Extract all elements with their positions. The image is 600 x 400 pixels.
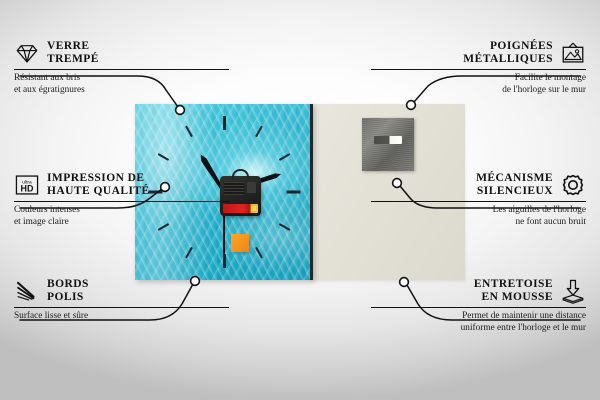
clock-tick [223,116,226,130]
product-infographic: VERRE TREMPÉ Résistant aux bris et aux é… [0,0,600,400]
feature-header: POIGNÉES MÉTALLIQUES [371,40,586,66]
polished-edges-icon [14,278,40,304]
ultra-hd-icon: ultra HD [14,172,40,198]
clock-tick [279,153,290,161]
movement-knob [247,182,256,193]
feature-description: Couleurs intenses et image claire [14,205,229,228]
feature-poignees-metalliques: POIGNÉES MÉTALLIQUES Facilite le montage… [371,40,586,96]
diamond-icon [14,40,40,66]
feature-header: BORDS POLIS [14,278,229,304]
framed-picture-icon [560,40,586,66]
feature-title: BORDS POLIS [47,278,89,304]
feature-rule [371,201,586,202]
clock-tick [185,247,193,258]
feature-mecanisme-silencieux: MÉCANISME SILENCIEUX Les aiguilles de l'… [371,172,586,228]
clock-tick [255,126,263,137]
feature-rule [371,69,586,70]
clock-tick [279,223,290,231]
foam-spacer-icon [560,278,586,304]
gear-icon [560,172,586,198]
feature-title: MÉCANISME SILENCIEUX [476,172,553,198]
feature-impression-haute-qualite: ultra HD IMPRESSION DE HAUTE QUALITÉ Cou… [14,172,229,228]
feature-description: Facilite le montage de l'horloge sur le … [371,73,586,96]
feature-title: VERRE TREMPÉ [47,40,99,66]
feature-description: Surface lisse et sûre [14,311,229,322]
clock-tick [158,153,169,161]
movement-hook [232,169,249,179]
feature-header: VERRE TREMPÉ [14,40,229,66]
foam-spacer [231,234,249,252]
feature-description: Permet de maintenir une distance uniform… [371,311,586,334]
feature-rule [371,307,586,308]
metallic-hanger [362,118,414,171]
feature-rule [14,69,229,70]
feature-rule [14,307,229,308]
feature-title: IMPRESSION DE HAUTE QUALITÉ [47,172,150,198]
clock-tick [255,247,263,258]
feature-description: Résistant aux bris et aux égratignures [14,73,229,96]
feature-header: ultra HD IMPRESSION DE HAUTE QUALITÉ [14,172,229,198]
hanger-keyhole-slot [374,136,402,144]
clock-tick [287,191,301,194]
feature-header: MÉCANISME SILENCIEUX [371,172,586,198]
svg-text:HD: HD [21,184,34,194]
feature-title: POIGNÉES MÉTALLIQUES [463,40,553,66]
feature-header: ENTRETOISE EN MOUSSE [371,278,586,304]
feature-description: Les aiguilles de l'horloge ne font aucun… [371,205,586,228]
feature-verre-trempe: VERRE TREMPÉ Résistant aux bris et aux é… [14,40,229,96]
feature-title: ENTRETOISE EN MOUSSE [474,278,553,304]
clock-tick [223,254,226,268]
feature-rule [14,201,229,202]
feature-bords-polis: BORDS POLIS Surface lisse et sûre [14,278,229,323]
clock-tick [185,126,193,137]
feature-entretoise-en-mousse: ENTRETOISE EN MOUSSE Permet de maintenir… [371,278,586,334]
